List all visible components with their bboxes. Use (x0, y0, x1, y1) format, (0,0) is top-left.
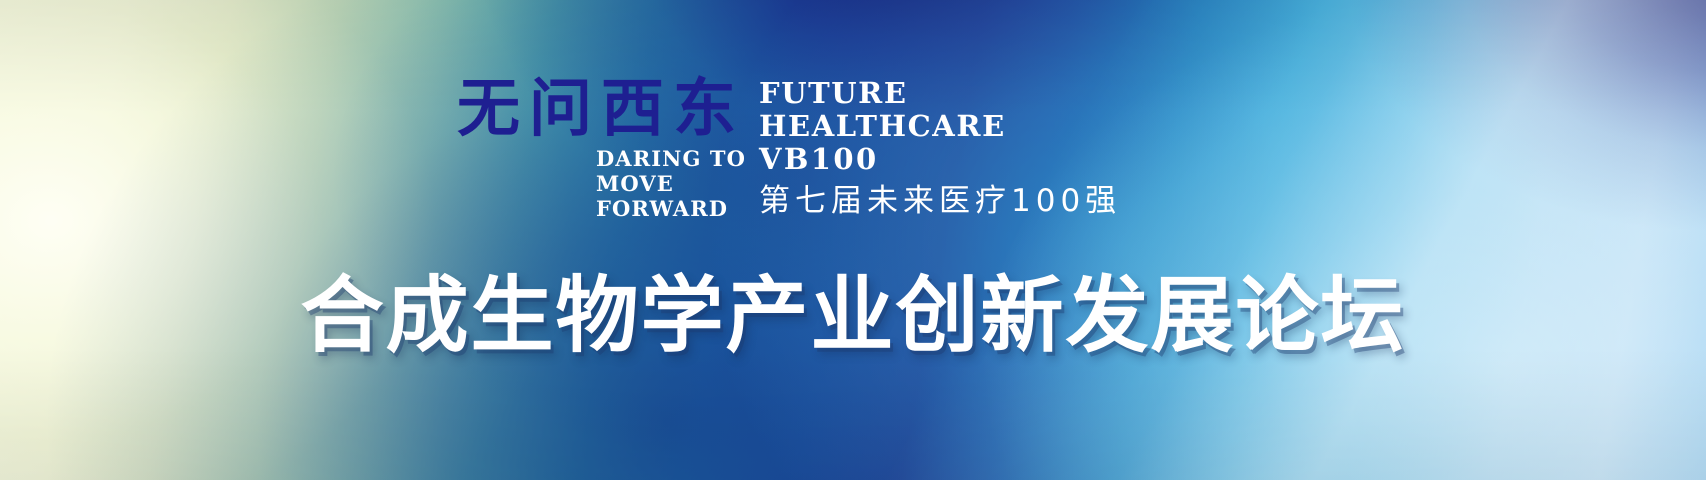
page-title: 合成生物学产业创新发展论坛 (0, 268, 1706, 364)
event-english-line-2: Healthcare (759, 110, 1121, 143)
event-english-line-3: VB100 (759, 143, 1121, 176)
brand-tagline-line-2: Move (596, 171, 746, 196)
brand-tagline: Daring to Move Forward (596, 146, 746, 221)
event-english-title: Future Healthcare VB100 (759, 77, 1121, 176)
brand-mark: 无问西东 Daring to Move Forward (455, 72, 755, 237)
brand-tagline-line-1: Daring to (596, 146, 746, 171)
event-english-line-1: Future (759, 77, 1121, 110)
event-mark: Future Healthcare VB100 第七届未来医疗100强 (759, 72, 1121, 220)
brand-chinese-name: 无问西东 (457, 72, 745, 144)
event-lockup: 无问西东 Daring to Move Forward Future Healt… (455, 72, 1121, 237)
event-chinese-subtitle: 第七届未来医疗100强 (759, 182, 1121, 220)
forum-banner: 无问西东 Daring to Move Forward Future Healt… (0, 0, 1706, 480)
banner-content: 无问西东 Daring to Move Forward Future Healt… (0, 0, 1706, 480)
brand-tagline-line-3: Forward (596, 196, 746, 221)
